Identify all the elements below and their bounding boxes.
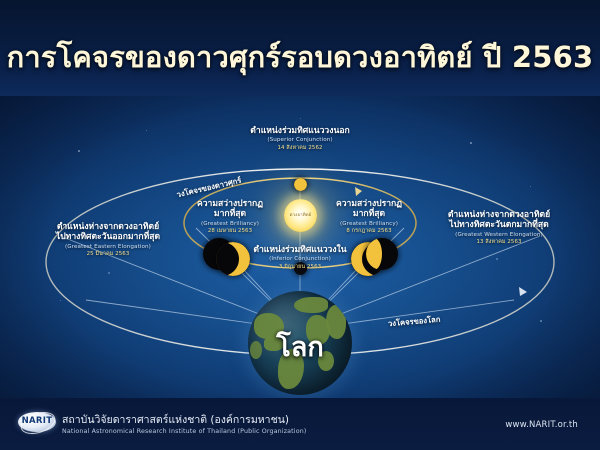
label-date: 13 สิงหาคม 2563 bbox=[415, 239, 583, 246]
footer-org-th: สถาบันวิจัยดาราศาสตร์แห่งชาติ (องค์การมห… bbox=[62, 414, 306, 427]
label-greatest-brilliancy-east: ความสว่างปรากฏ มากที่สุด (Greatest Brill… bbox=[172, 199, 288, 235]
label-th-line2: มากที่สุด bbox=[310, 209, 428, 219]
label-date: 25 มีนาคม 2563 bbox=[28, 251, 188, 258]
label-date: 8 กรกฎาคม 2563 bbox=[310, 228, 428, 235]
venus-superior-conjunction bbox=[294, 178, 307, 191]
label-en: (Greatest Brilliancy) bbox=[310, 221, 428, 228]
label-date: 14 สิงหาคม 2562 bbox=[215, 145, 385, 152]
label-th-line1: ความสว่างปรากฏ bbox=[310, 199, 428, 209]
label-th-line2: ไปทางทิศตะวันตกมากที่สุด bbox=[415, 220, 583, 230]
label-en: (Greatest Western Elongation) bbox=[415, 232, 583, 239]
earth-orbit-arrow bbox=[519, 287, 527, 296]
footer-org: สถาบันวิจัยดาราศาสตร์แห่งชาติ (องค์การมห… bbox=[62, 414, 306, 436]
label-th: ตำแหน่งร่วมทิศแนววงนอก bbox=[215, 126, 385, 136]
label-greatest-brilliancy-west: ความสว่างปรากฏ มากที่สุด (Greatest Brill… bbox=[310, 199, 428, 235]
label-en: (Greatest Brilliancy) bbox=[172, 221, 288, 228]
footer-org-en: National Astronomical Research Institute… bbox=[62, 427, 306, 436]
label-th-line2: มากที่สุด bbox=[172, 209, 288, 219]
logo-wordmark: NARIT bbox=[18, 416, 56, 426]
label-greatest-eastern-elongation: ตำแหน่งห่างจากดวงอาทิตย์ ไปทางทิศตะวันออ… bbox=[28, 222, 188, 258]
venus-orbit-arrow bbox=[355, 187, 362, 196]
footer-website: www.NARIT.or.th bbox=[505, 420, 578, 430]
infographic-poster: ดวงอาทิตย์ โลก วงโคจรของดาวศุกร์ วงโคจรข… bbox=[0, 0, 600, 450]
label-en: (Inferior Conjunction) bbox=[230, 256, 370, 263]
page-title: การโคจรของดาวศุกร์รอบดวงอาทิตย์ ปี 2563 bbox=[0, 34, 600, 80]
label-greatest-western-elongation: ตำแหน่งห่างจากดวงอาทิตย์ ไปทางทิศตะวันตก… bbox=[415, 210, 583, 246]
label-inferior-conjunction: ตำแหน่งร่วมทิศแนววงใน (Inferior Conjunct… bbox=[230, 245, 370, 270]
label-th-line2: ไปทางทิศตะวันออกมากที่สุด bbox=[28, 232, 188, 242]
narit-logo: NARIT bbox=[18, 412, 56, 432]
label-th-line1: ความสว่างปรากฏ bbox=[172, 199, 288, 209]
venus-greatest-western-elongation bbox=[366, 238, 398, 270]
label-th-line1: ตำแหน่งห่างจากดวงอาทิตย์ bbox=[28, 222, 188, 232]
label-en: (Superior Conjunction) bbox=[215, 137, 385, 144]
earth-label: โลก bbox=[248, 325, 352, 368]
label-date: 3 มิถุนายน 2563 bbox=[230, 264, 370, 271]
label-date: 28 เมษายน 2563 bbox=[172, 228, 288, 235]
label-en: (Greatest Eastern Elongation) bbox=[28, 244, 188, 251]
label-th: ตำแหน่งร่วมทิศแนววงใน bbox=[230, 245, 370, 255]
label-th-line1: ตำแหน่งห่างจากดวงอาทิตย์ bbox=[415, 210, 583, 220]
label-superior-conjunction: ตำแหน่งร่วมทิศแนววงนอก (Superior Conjunc… bbox=[215, 126, 385, 151]
